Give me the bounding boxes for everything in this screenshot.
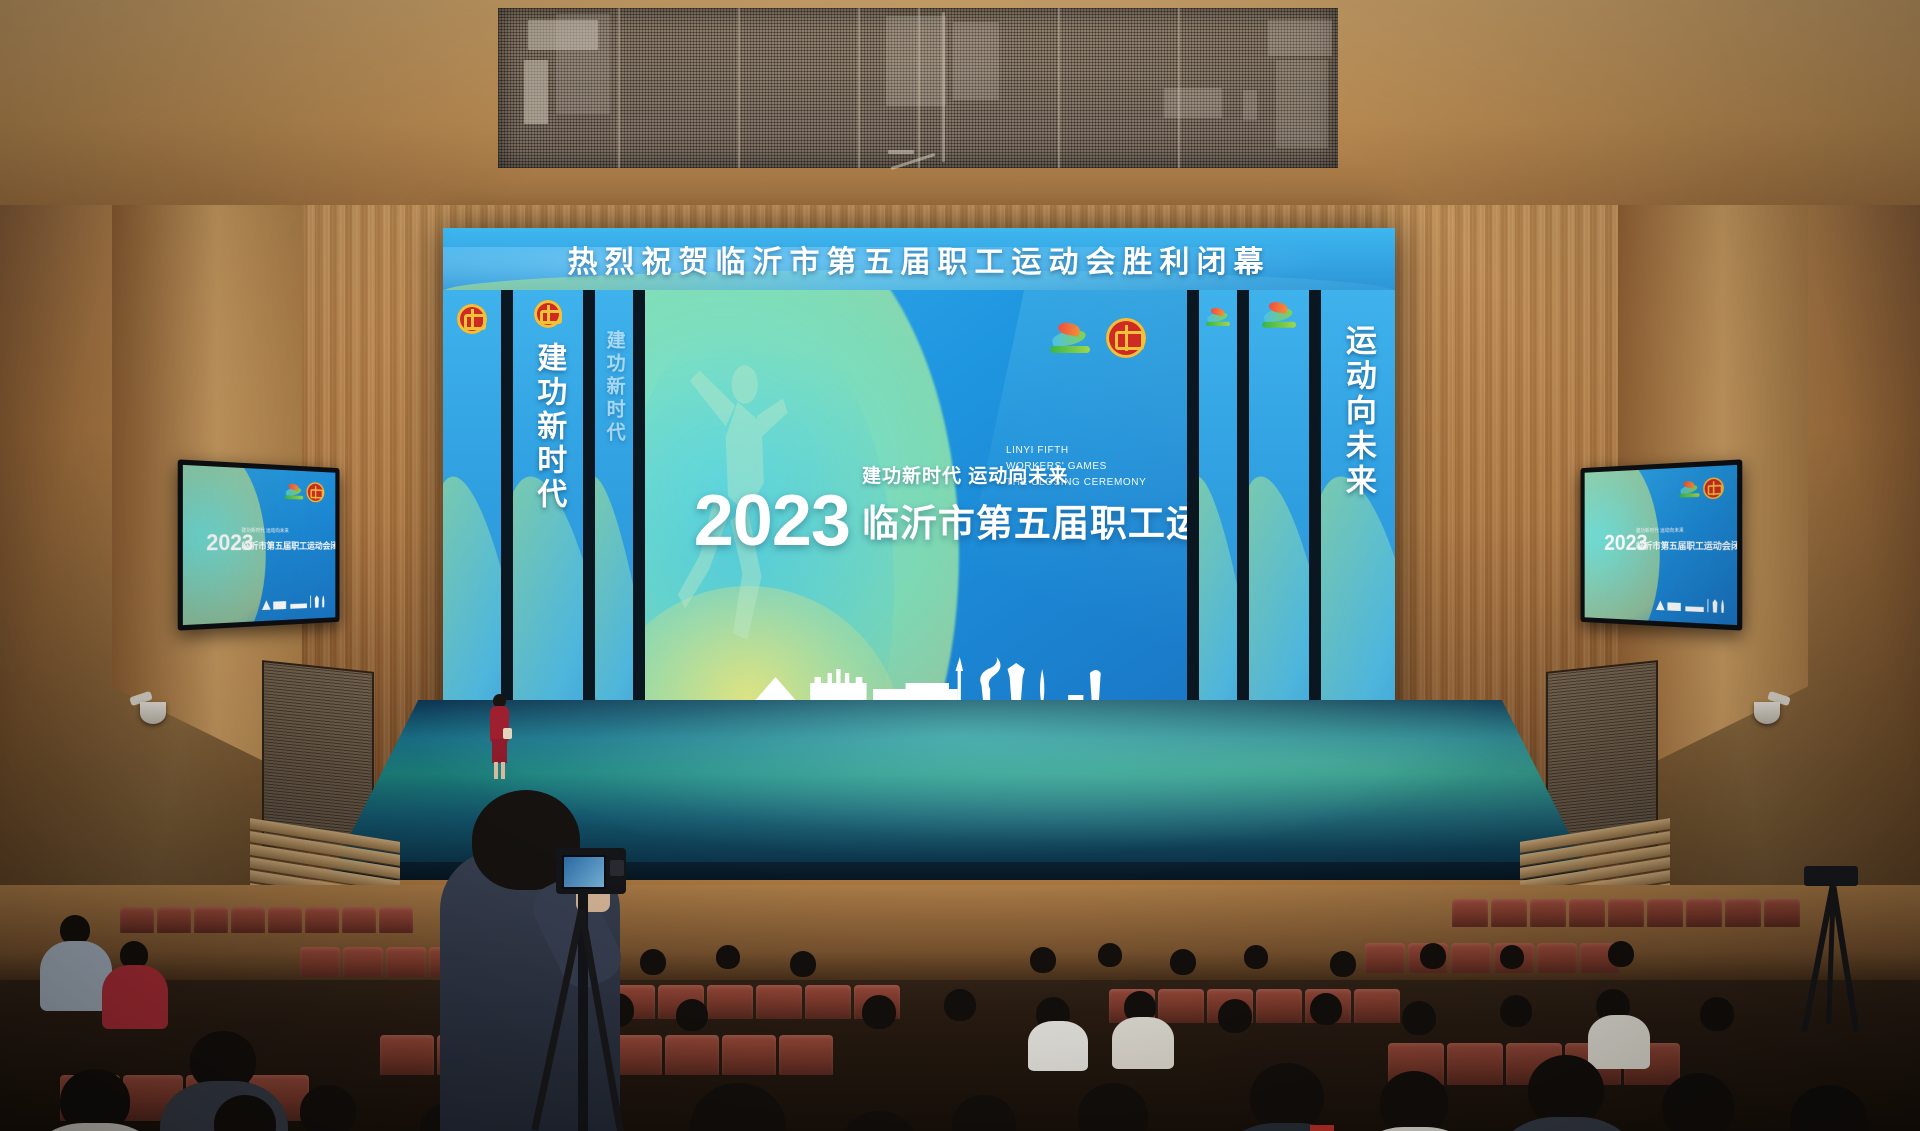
dome-camera-left-icon xyxy=(140,702,166,724)
right-side-monitor: 2023 建功新时代 运动向未来 临沂市第五届职工运动会闭幕式 xyxy=(1580,459,1742,630)
congratulation-banner-text: 热烈祝贺临沂市第五届职工运动会胜利闭幕 xyxy=(568,237,1271,281)
right-monitor-title: 临沂市第五届职工运动会闭幕式 xyxy=(1636,538,1737,552)
acftu-logo-left-b xyxy=(534,300,562,328)
left-side-monitor: 2023 建功新时代 运动向未来 临沂市第五届职工运动会闭幕式 xyxy=(178,459,340,630)
right-monitor-slogan: 建功新时代 运动向未来 xyxy=(1636,526,1684,533)
center-screen-title-block: 2023 建功新时代 运动向未来 临沂市第五届职工运动会闭幕式 xyxy=(694,461,1187,551)
perforated-ceiling-panel xyxy=(498,8,1338,168)
left-monitor-skyline-icon xyxy=(260,592,327,610)
sports-emblem-logo-icon xyxy=(1048,321,1092,355)
seat-row-2 xyxy=(1452,899,1800,927)
led-left-slogan-panel: 建功新时代 xyxy=(513,290,583,753)
acftu-union-logo-icon xyxy=(1106,318,1146,358)
left-monitor-title: 临沂市第五届职工运动会闭幕式 xyxy=(241,539,335,552)
auditorium-scene: 热烈祝贺临沂市第五届职工运动会胜利闭幕 建功新时代 建功新时代 xyxy=(0,0,1920,1131)
audience-house xyxy=(0,885,1920,1131)
congratulation-banner: 热烈祝贺临沂市第五届职工运动会胜利闭幕 xyxy=(443,228,1395,290)
led-right-slogan-text: 运动向未来 xyxy=(1339,324,1377,499)
dome-camera-right-icon xyxy=(1754,702,1780,724)
seat-row-4 xyxy=(1365,943,1620,973)
right-monitor-skyline-icon xyxy=(1654,594,1727,613)
led-left-slogan-text: 建功新时代 xyxy=(530,342,567,512)
sports-logo-right-small xyxy=(1199,300,1237,334)
main-title-label: 临沂市第五届职工运动会闭幕式 xyxy=(862,493,1187,547)
led-center-screen: LINYI FIFTH WORKERS' GAMES THE CLOSING C… xyxy=(645,290,1187,753)
led-left-narrow-panel: 建功新时代 xyxy=(595,290,633,753)
city-skyline-silhouette-icon xyxy=(743,655,1112,707)
seat-row-1 xyxy=(120,907,413,933)
stage-host xyxy=(484,694,514,782)
slogan-label: 建功新时代 运动向未来 xyxy=(862,461,1187,488)
led-right-narrow-panel xyxy=(1199,290,1237,753)
led-right-slogan-panel: 运动向未来 xyxy=(1321,290,1395,753)
foreground-video-camera xyxy=(556,848,626,894)
acftu-logo-left-a xyxy=(457,304,487,334)
left-monitor-slogan: 建功新时代 运动向未来 xyxy=(241,526,288,533)
year-label: 2023 xyxy=(694,492,850,551)
center-screen-logos xyxy=(1048,318,1146,358)
led-left-panel-logo xyxy=(443,290,501,753)
small-flag-a xyxy=(1310,1125,1334,1131)
led-right-logo-panel xyxy=(1249,290,1309,753)
sports-logo-right xyxy=(1257,298,1301,332)
main-led-wall: 热烈祝贺临沂市第五届职工运动会胜利闭幕 建功新时代 建功新时代 xyxy=(443,228,1395,753)
english-line-1: LINYI FIFTH xyxy=(1006,443,1146,459)
foreground-camera-operator xyxy=(420,790,660,1131)
